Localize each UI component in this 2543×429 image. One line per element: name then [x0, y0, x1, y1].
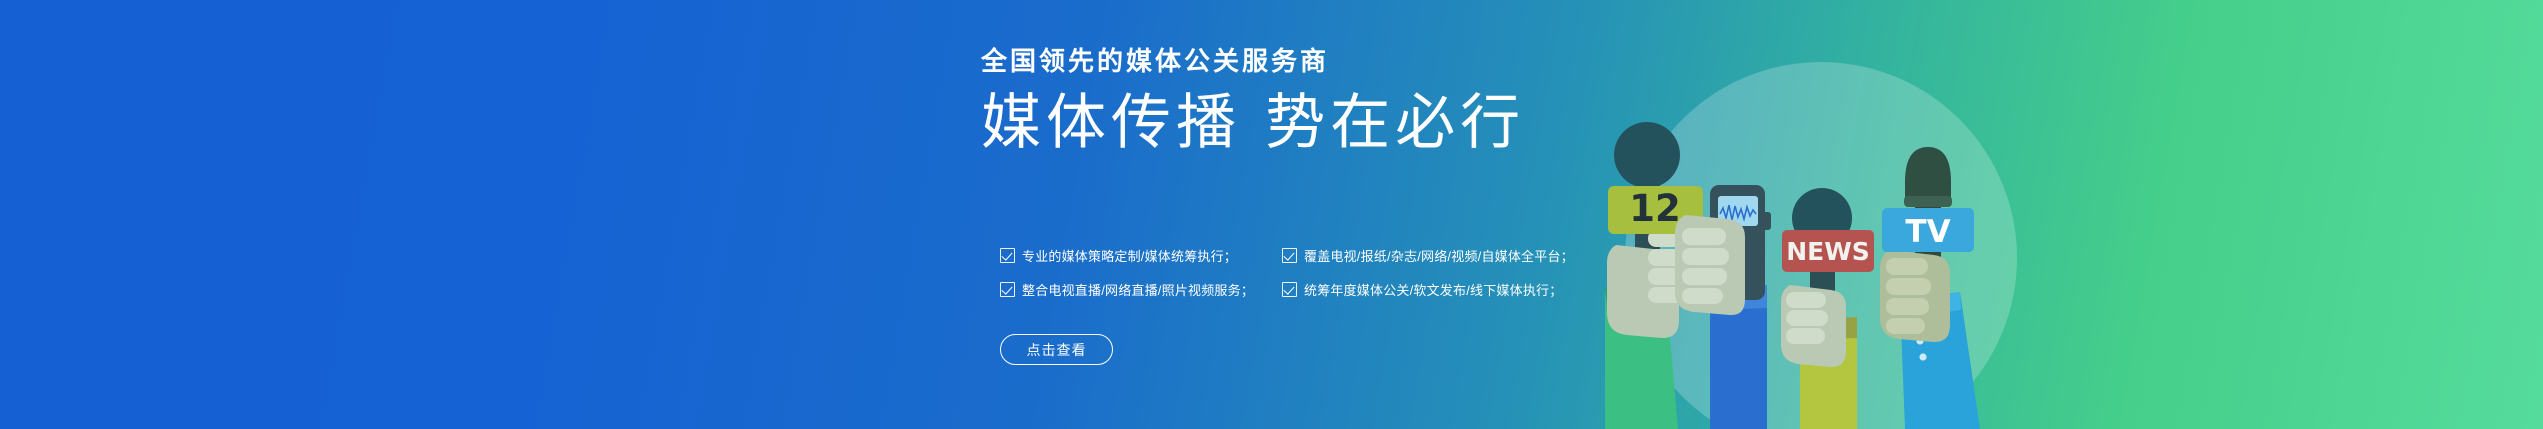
feature-list: 专业的媒体策略定制/媒体统筹执行； 覆盖电视/报纸/杂志/网络/视频/自媒体全平…	[1000, 238, 1600, 306]
view-details-button[interactable]: 点击查看	[1000, 334, 1113, 365]
checkmark-icon	[1000, 282, 1015, 297]
feature-label: 统筹年度媒体公关/软文发布/线下媒体执行；	[1304, 280, 1562, 299]
hero-banner: 12	[0, 0, 2543, 429]
checkmark-icon	[1000, 248, 1015, 263]
mic-label-news: NEWS	[1786, 237, 1870, 266]
feature-label: 覆盖电视/报纸/杂志/网络/视频/自媒体全平台；	[1304, 246, 1574, 265]
mic-label-12: 12	[1629, 187, 1681, 230]
hero-copy: 全国领先的媒体公关服务商 媒体传播 势在必行	[981, 46, 1601, 158]
feature-item: 专业的媒体策略定制/媒体统筹执行；	[1000, 238, 1282, 272]
mic-12-group: 12	[1605, 122, 1703, 429]
microphones-illustration: 12	[1560, 0, 2120, 429]
feature-item: 覆盖电视/报纸/杂志/网络/视频/自媒体全平台；	[1282, 238, 1600, 272]
mic-news-group: NEWS	[1781, 188, 1874, 429]
feature-label: 专业的媒体策略定制/媒体统筹执行；	[1022, 246, 1237, 265]
mic-tv-group: TV	[1880, 147, 1980, 429]
hero-title: 媒体传播 势在必行	[981, 89, 1601, 158]
checkmark-icon	[1282, 282, 1297, 297]
feature-item: 整合电视直播/网络直播/照片视频服务；	[1000, 272, 1282, 306]
checkmark-icon	[1282, 248, 1297, 263]
hero-subtitle: 全国领先的媒体公关服务商	[981, 46, 1601, 77]
feature-label: 整合电视直播/网络直播/照片视频服务；	[1022, 280, 1254, 299]
feature-item: 统筹年度媒体公关/软文发布/线下媒体执行；	[1282, 272, 1600, 306]
mic-recorder-group	[1675, 185, 1771, 429]
mic-label-tv: TV	[1905, 214, 1950, 250]
halo-circle-decoration	[1625, 62, 2017, 429]
